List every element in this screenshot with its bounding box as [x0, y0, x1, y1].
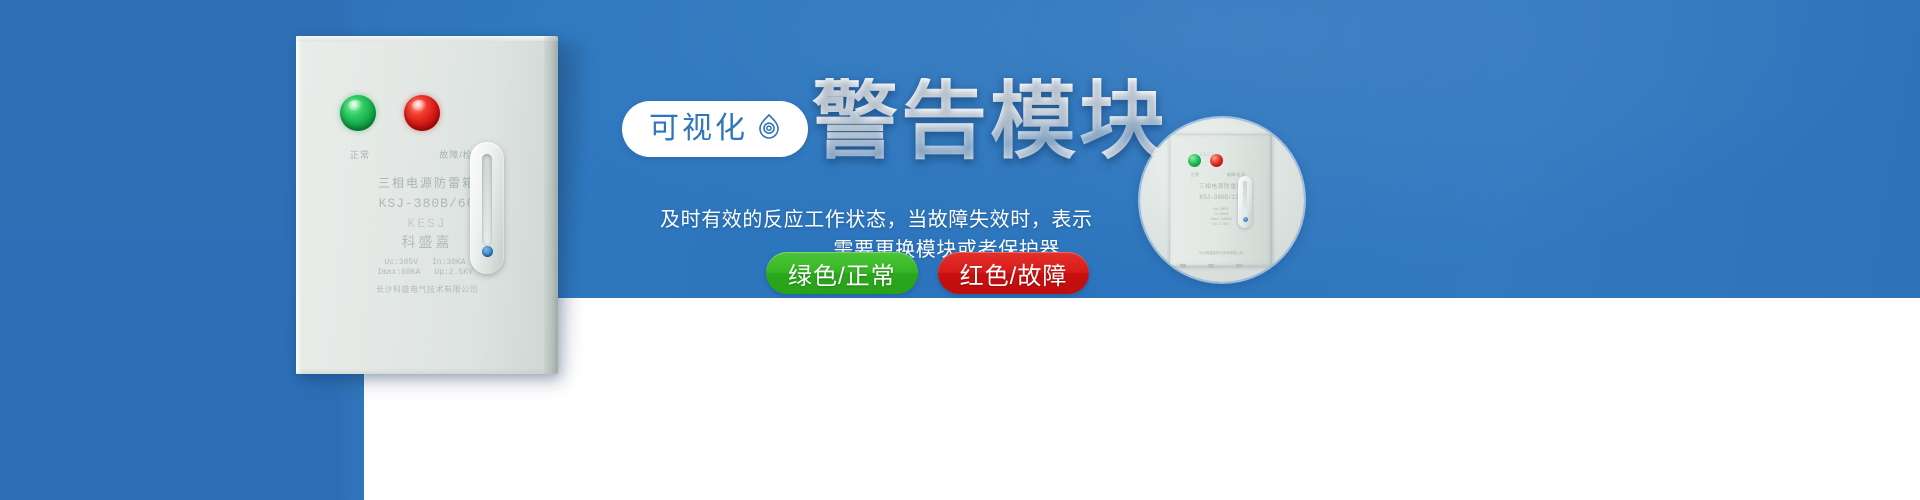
- device-enclosure: 正常 故障/检测 三相电源防雷箱 KSJ-380B/60 KESJ 科盛嘉 Uc…: [296, 36, 558, 374]
- led-green-highlight: [348, 100, 363, 112]
- inset-foot-mid: [1208, 264, 1214, 268]
- inset-door-handle: [1238, 176, 1252, 228]
- inset-device-feet: [1180, 264, 1242, 268]
- handle-slot: [482, 154, 492, 246]
- indicator-led-green: [340, 95, 376, 131]
- visualization-pill: 可视化: [622, 101, 808, 157]
- inset-handle-lock-dot: [1243, 217, 1248, 222]
- device-logo: KESJ: [296, 216, 558, 231]
- inset-label-normal: 正常: [1176, 172, 1214, 178]
- inset-specs: Uc:385V In:30KA Imax:120KA Up:2.5KV: [1170, 208, 1272, 228]
- inset-label-fault: 故障/检测: [1214, 172, 1258, 178]
- inset-indicator-labels: 正常 故障/检测: [1176, 172, 1266, 178]
- inset-model: KSJ-380D/120: [1170, 194, 1272, 201]
- status-badges: 绿色/正常 红色/故障: [766, 252, 1089, 294]
- device-model: KSJ-380B/60: [296, 196, 558, 211]
- inset-company: 长沙科盛嘉电气技术有限公司: [1170, 250, 1272, 255]
- device-inset-circle: KESJ 正常 故障/检测 三相电源防雷箱 KSJ-380D/120 Uc:38…: [1140, 118, 1304, 282]
- indicator-led-red: [404, 95, 440, 131]
- inset-foot-right: [1236, 264, 1242, 268]
- status-badge-normal[interactable]: 绿色/正常: [766, 252, 918, 294]
- handle-lock-dot: [482, 246, 493, 257]
- device-top-edge: [296, 36, 558, 41]
- visualization-pill-label: 可视化: [649, 114, 748, 144]
- device-product-name: 三相电源防雷箱: [296, 174, 558, 191]
- device-company: 长沙科盛电气技术有限公司: [296, 284, 558, 295]
- device-door-handle: [470, 142, 504, 274]
- inset-handle-slot: [1243, 181, 1247, 215]
- device-spec-imax: Imax:60KA: [377, 268, 420, 277]
- device-brand: 科盛嘉: [296, 232, 558, 252]
- device-spec-uc: Uc:385V: [384, 258, 418, 267]
- device-label-normal: 正常: [314, 148, 406, 161]
- location-pin-icon: [757, 113, 781, 146]
- device-spec-in: In:30KA: [432, 258, 466, 267]
- page-title: 警告模块: [812, 78, 1168, 164]
- inset-product-name: 三相电源防雷箱: [1170, 182, 1272, 190]
- status-badge-fault[interactable]: 红色/故障: [938, 252, 1090, 294]
- inset-device-enclosure: KESJ 正常 故障/检测 三相电源防雷箱 KSJ-380D/120 Uc:38…: [1170, 134, 1272, 266]
- device-spec-up: Up:2.5KV: [434, 268, 472, 277]
- inset-indicator-led-red: [1210, 154, 1223, 167]
- led-red-highlight: [412, 100, 427, 112]
- inset-indicator-led-green: [1188, 154, 1201, 167]
- inset-foot-left: [1180, 264, 1186, 268]
- banner: 正常 故障/检测 三相电源防雷箱 KSJ-380B/60 KESJ 科盛嘉 Uc…: [0, 0, 1920, 500]
- subtitle-line-1: 及时有效的反应工作状态，当故障失效时，表示: [660, 205, 1060, 235]
